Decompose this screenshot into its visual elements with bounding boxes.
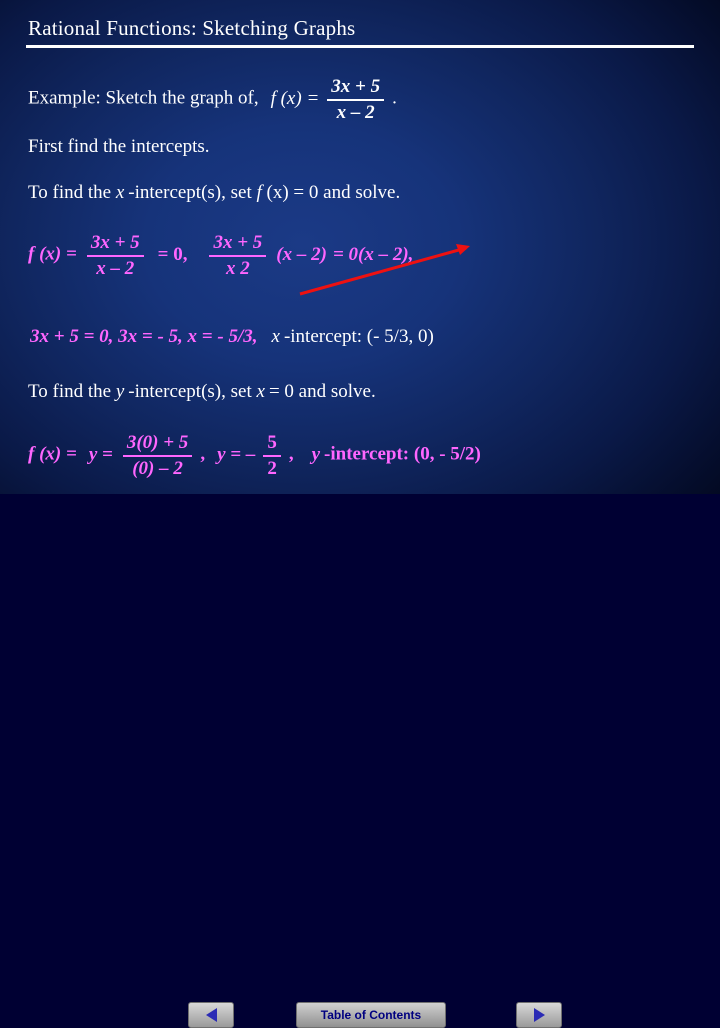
fraction-bar bbox=[87, 255, 144, 257]
solve-line: 3x + 5 = 0, 3x = - 5, x = - 5/3, bbox=[30, 326, 258, 347]
eq3-denominator-2: 2 bbox=[263, 458, 281, 480]
example-denominator: x – 2 bbox=[327, 102, 384, 124]
eq3-fraction: 3(0) + 5 (0) – 2 bbox=[123, 432, 192, 480]
eq3-y: y = bbox=[89, 444, 113, 465]
y-int-instr-c: = 0 and solve. bbox=[269, 381, 376, 402]
triangle-right-icon bbox=[534, 1008, 545, 1022]
x-intercept-result-line: 3x + 5 = 0, 3x = - 5, x = - 5/3, x -inte… bbox=[30, 326, 434, 348]
bottom-navigation-bar: Table of Contents bbox=[0, 494, 720, 540]
y-intercept-instruction: To find the y -intercept(s), set x = 0 a… bbox=[28, 381, 376, 403]
fraction-bar bbox=[209, 255, 266, 257]
page-title: Rational Functions: Sketching Graphs bbox=[28, 16, 355, 41]
triangle-left-icon bbox=[206, 1008, 217, 1022]
y-int-instr-x: x bbox=[257, 381, 265, 402]
x-int-instr-x: x bbox=[116, 182, 124, 203]
x-int-instr-a: To find the bbox=[28, 182, 116, 203]
eq1-fraction: 3x + 5 x – 2 bbox=[87, 232, 144, 280]
eq1-equals-zero: = 0, bbox=[158, 244, 188, 265]
example-prefix: Example: Sketch the graph of, bbox=[28, 88, 259, 109]
eq2-fraction: 3x + 5 x 2 bbox=[209, 232, 266, 280]
eq2-multiplier: (x – 2) bbox=[276, 244, 327, 265]
first-step-line: First find the intercepts. bbox=[28, 136, 210, 158]
eq3-y2: y = – bbox=[217, 444, 255, 465]
eq3-comma: , bbox=[200, 444, 205, 465]
example-fraction: 3x + 5 x – 2 bbox=[327, 76, 384, 124]
fraction-bar bbox=[123, 455, 192, 457]
slide-background: Rational Functions: Sketching Graphs Exa… bbox=[0, 0, 720, 540]
example-numerator: 3x + 5 bbox=[327, 76, 384, 98]
equation-line-1: f (x) = 3x + 5 x – 2 = 0, 3x + 5 x 2 (x … bbox=[28, 232, 413, 280]
y-int-instr-b: -intercept(s), set bbox=[128, 381, 256, 402]
eq2-numerator: 3x + 5 bbox=[209, 232, 266, 254]
x-int-instr-c: (x) = 0 and solve. bbox=[267, 182, 401, 203]
eq3-fx: f (x) = bbox=[28, 444, 77, 465]
title-divider bbox=[26, 45, 694, 48]
eq1-fx: f (x) = bbox=[28, 244, 77, 265]
previous-slide-button[interactable] bbox=[188, 1002, 234, 1028]
y-intercept-value: -intercept: (0, - 5/2) bbox=[324, 444, 481, 465]
eq3-denominator: (0) – 2 bbox=[123, 458, 192, 480]
fraction-bar bbox=[263, 455, 281, 457]
next-slide-button[interactable] bbox=[516, 1002, 562, 1028]
x-intercept-value: -intercept: (- 5/3, 0) bbox=[284, 326, 434, 347]
eq3-numerator-2: 5 bbox=[263, 432, 281, 454]
eq3-comma-2: , bbox=[289, 444, 294, 465]
fraction-bar bbox=[327, 99, 384, 101]
x-intercept-instruction: To find the x -intercept(s), set f (x) =… bbox=[28, 182, 400, 204]
example-fx: f (x) = bbox=[271, 88, 320, 109]
x-int-instr-f: f bbox=[257, 182, 267, 203]
eq1-denominator: x – 2 bbox=[87, 258, 144, 280]
y-intercept-label: y bbox=[312, 444, 320, 465]
equation-line-2: f (x) = y = 3(0) + 5 (0) – 2 , y = – 5 2… bbox=[28, 432, 481, 480]
eq1-numerator: 3x + 5 bbox=[87, 232, 144, 254]
example-period: . bbox=[392, 88, 397, 109]
eq2-denominator: x 2 bbox=[209, 258, 266, 280]
eq3-numerator: 3(0) + 5 bbox=[123, 432, 192, 454]
x-int-instr-b: -intercept(s), set bbox=[128, 182, 256, 203]
eq3-fraction-2: 5 2 bbox=[263, 432, 281, 480]
x-intercept-label: x bbox=[272, 326, 280, 347]
y-int-instr-a: To find the bbox=[28, 381, 116, 402]
y-int-instr-y: y bbox=[116, 381, 124, 402]
example-line: Example: Sketch the graph of, f (x) = 3x… bbox=[28, 76, 397, 124]
eq2-right-side: = 0(x – 2), bbox=[333, 244, 413, 265]
table-of-contents-button[interactable]: Table of Contents bbox=[296, 1002, 446, 1028]
